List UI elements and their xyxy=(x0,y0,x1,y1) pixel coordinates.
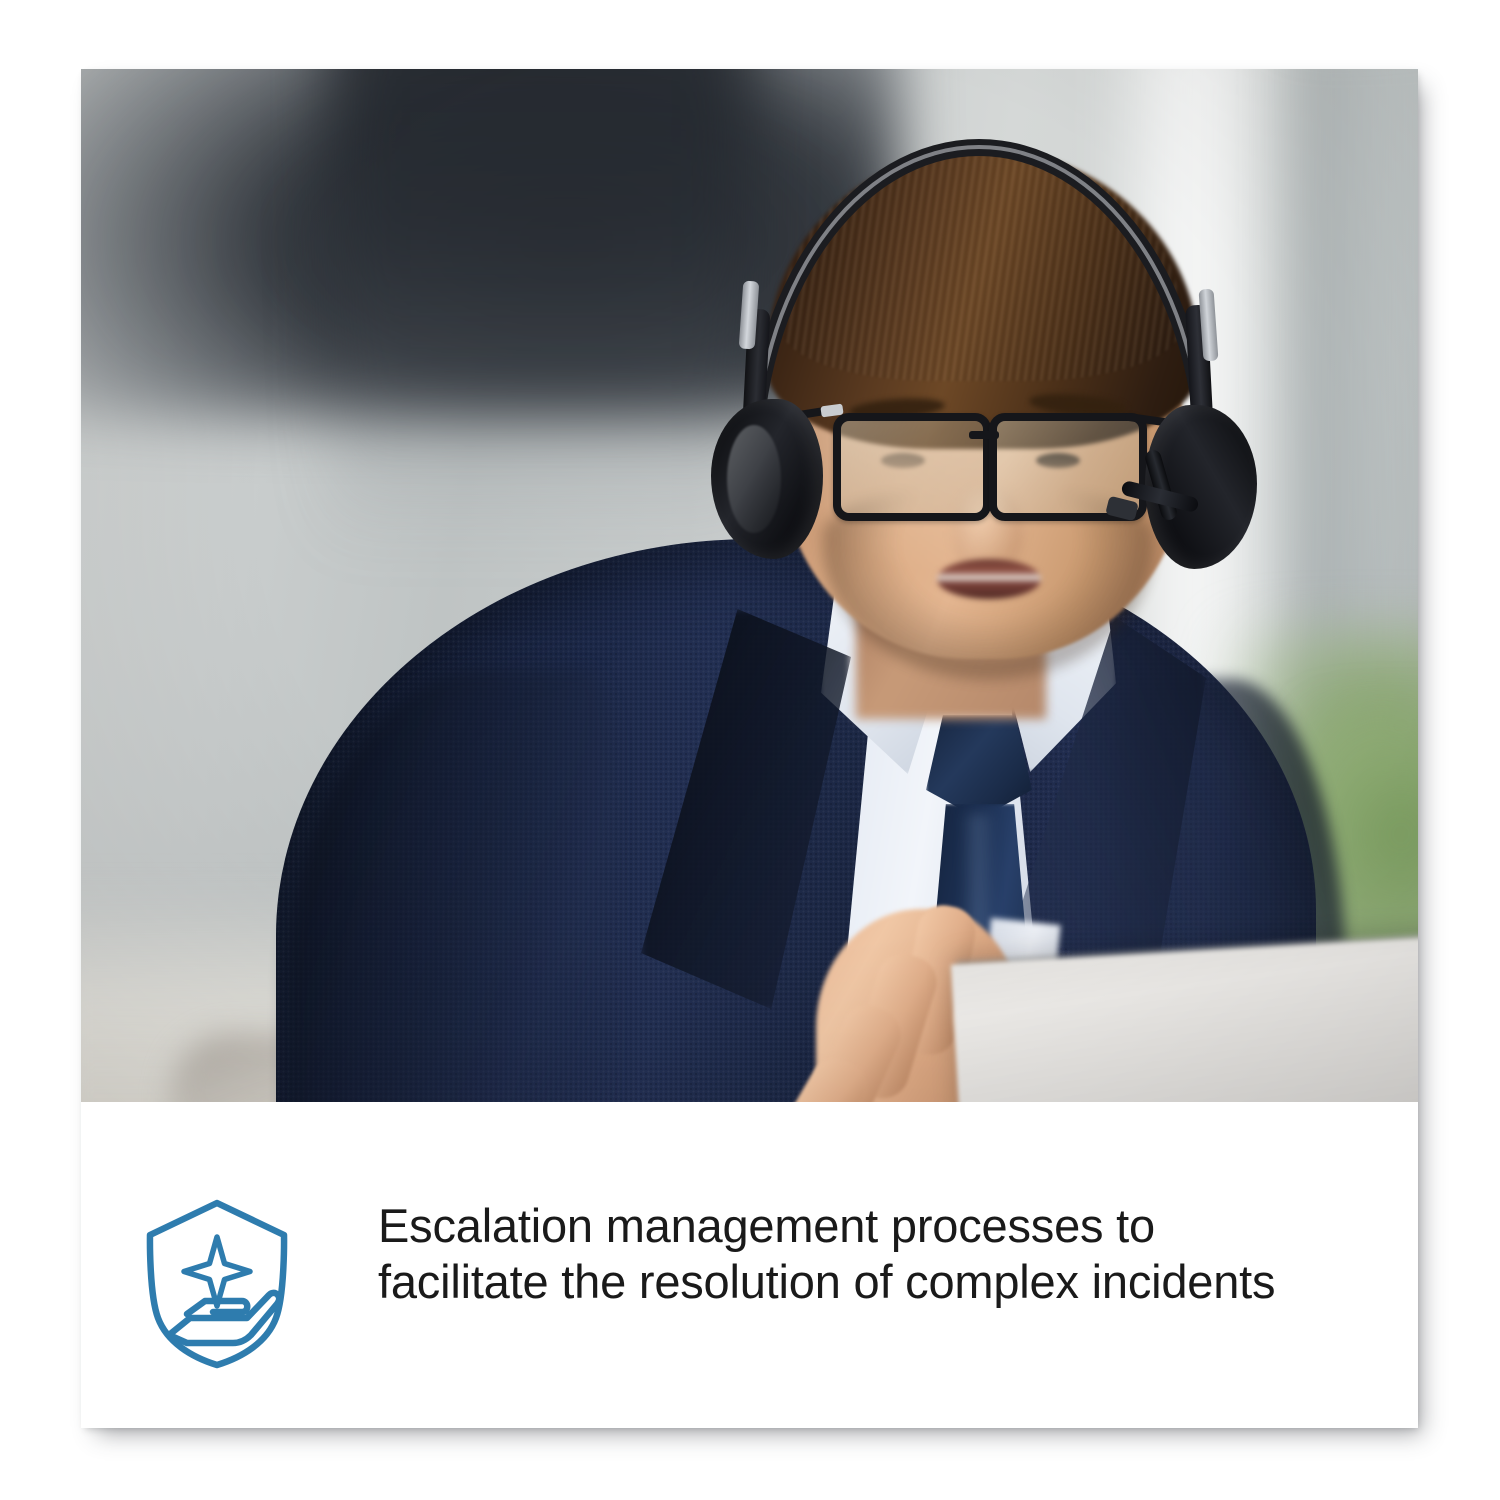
photo-background-pillar xyxy=(331,69,751,549)
shield-hand-sparkle-icon xyxy=(143,1198,291,1370)
caption-heading: Escalation management processes to facil… xyxy=(378,1198,1308,1310)
feature-card: Escalation management processes to facil… xyxy=(81,69,1418,1428)
hero-photo xyxy=(81,69,1418,1102)
mouth xyxy=(937,559,1041,599)
caption-panel: Escalation management processes to facil… xyxy=(81,1102,1418,1428)
headset-earcup-left-pad xyxy=(727,425,781,533)
page-root: Escalation management processes to facil… xyxy=(0,0,1500,1500)
